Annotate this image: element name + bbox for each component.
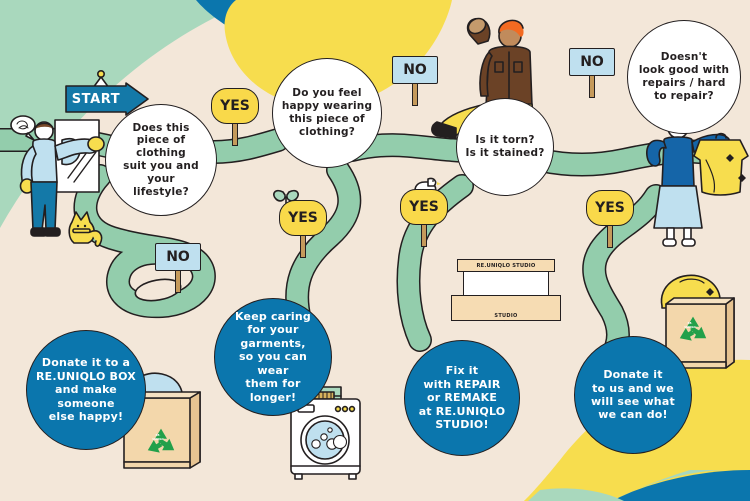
studio-counter-caption: STUDIO <box>452 313 560 319</box>
box-logo-line1: RE. <box>156 433 161 437</box>
studio-banner-label: RE.UNIQLO STUDIO <box>457 259 555 272</box>
sign-post <box>589 76 595 98</box>
answer-1-text: Donate it to a RE.UNIQLO BOX and make so… <box>27 356 145 423</box>
sign-post <box>412 84 418 106</box>
question-3-text: Is it torn? Is it stained? <box>457 134 552 160</box>
answer-bubble-4[interactable]: Donate it to us and we will see what we … <box>574 336 692 454</box>
sign-no-3[interactable]: NO <box>569 48 615 98</box>
sign-yes-2-label: YES <box>279 200 327 236</box>
answer-3-text: Fix it with REPAIR or REMAKE at RE.UNIQL… <box>411 364 514 431</box>
reuniqlo-studio-illustration: RE.UNIQLO STUDIO STUDIO <box>451 259 561 321</box>
studio-counter: STUDIO <box>451 295 561 321</box>
question-1-text: Does this piece of clothing suit you and… <box>106 122 216 199</box>
sign-no-3-label: NO <box>569 48 615 76</box>
sign-post <box>300 236 306 258</box>
answer-bubble-2[interactable]: Keep caring for your garments, so you ca… <box>214 298 332 416</box>
sign-post <box>175 271 181 293</box>
sign-no-1[interactable]: NO <box>155 243 201 293</box>
question-4-text: Doesn't look good with repairs / hard to… <box>631 51 737 102</box>
sign-no-1-label: NO <box>155 243 201 271</box>
infographic-canvas: RE. UNIQLO RE. UNIQLO RE. UNIQLO <box>0 0 750 501</box>
sign-no-2[interactable]: NO <box>392 56 438 106</box>
question-bubble-1[interactable]: Does this piece of clothing suit you and… <box>105 104 217 216</box>
cat-illustration <box>69 212 101 246</box>
answer-bubble-3[interactable]: Fix it with REPAIR or REMAKE at RE.UNIQL… <box>404 340 520 456</box>
answer-2-text: Keep caring for your garments, so you ca… <box>215 310 331 404</box>
sign-post <box>607 226 613 248</box>
bag-logo-line1: RE. <box>688 321 693 325</box>
answer-4-text: Donate it to us and we will see what we … <box>583 368 683 422</box>
sign-no-2-label: NO <box>392 56 438 84</box>
sign-yes-1-label: YES <box>211 88 259 124</box>
sign-post <box>421 225 427 247</box>
question-bubble-2[interactable]: Do you feel happy wearing this piece of … <box>272 58 382 168</box>
bag-logo-line2: UNIQLO <box>684 325 696 329</box>
question-2-text: Do you feel happy wearing this piece of … <box>274 87 380 138</box>
sign-yes-3-label: YES <box>400 189 448 225</box>
question-bubble-3[interactable]: Is it torn? Is it stained? <box>456 98 554 196</box>
sign-post <box>232 124 238 146</box>
sign-yes-4[interactable]: YES <box>586 190 634 248</box>
question-bubble-4[interactable]: Doesn't look good with repairs / hard to… <box>627 20 741 134</box>
box-logo-line2: UNIQLO <box>152 437 164 441</box>
sign-yes-1[interactable]: YES <box>211 88 259 146</box>
answer-bubble-1[interactable]: Donate it to a RE.UNIQLO BOX and make so… <box>26 330 146 450</box>
start-label: START <box>64 82 128 116</box>
sign-yes-2[interactable]: YES <box>279 200 327 258</box>
person-mirror-illustration <box>11 116 104 246</box>
sign-yes-4-label: YES <box>586 190 634 226</box>
person-sweater-illustration <box>647 118 748 246</box>
sign-yes-3[interactable]: YES <box>400 189 448 247</box>
